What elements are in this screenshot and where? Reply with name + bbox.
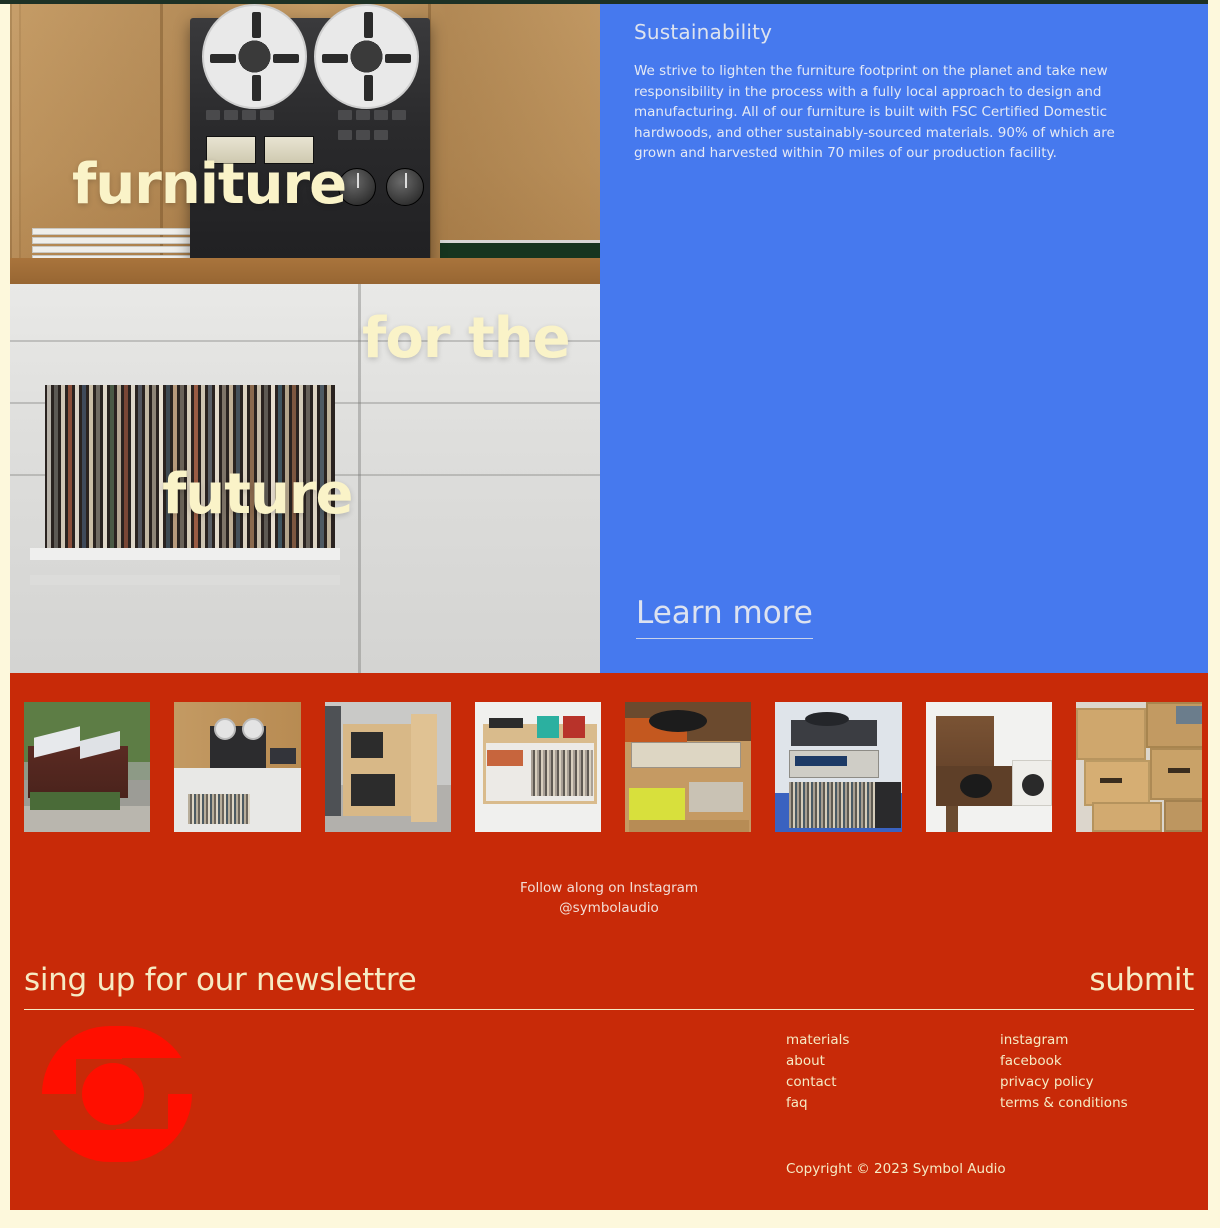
footer-link-privacy-policy[interactable]: privacy policy bbox=[1000, 1072, 1152, 1092]
sustainability-panel: Sustainability We strive to lighten the … bbox=[600, 0, 1208, 673]
logo-inner-circle bbox=[82, 1063, 144, 1125]
hero-word-1: furniture bbox=[72, 152, 346, 217]
instagram-line-2: @symbolaudio bbox=[10, 898, 1208, 918]
gallery-item[interactable] bbox=[475, 702, 601, 832]
tape-reel bbox=[314, 4, 419, 109]
gallery-item[interactable] bbox=[24, 702, 150, 832]
panel-body: We strive to lighten the furniture footp… bbox=[634, 61, 1152, 164]
instagram-gallery bbox=[24, 702, 1202, 832]
bay-shelf bbox=[30, 548, 340, 560]
panel-heading: Sustainability bbox=[634, 20, 1152, 44]
hero-word-2: for the bbox=[362, 306, 570, 371]
footer-link-materials[interactable]: materials bbox=[786, 1030, 938, 1050]
hero-image: McIntosh bbox=[10, 0, 600, 673]
gallery-item[interactable] bbox=[775, 702, 901, 832]
hero-section: McIntosh bbox=[10, 0, 1208, 673]
reel-to-reel-deck bbox=[190, 18, 430, 268]
footer-link-about[interactable]: about bbox=[786, 1051, 938, 1071]
footer-link-contact[interactable]: contact bbox=[786, 1072, 938, 1092]
footer-link-faq[interactable]: faq bbox=[786, 1093, 938, 1113]
gallery-item[interactable] bbox=[325, 702, 451, 832]
gallery-item[interactable] bbox=[625, 702, 751, 832]
footer-column-2: instagram facebook privacy policy terms … bbox=[1000, 1030, 1152, 1113]
footer-link-instagram[interactable]: instagram bbox=[1000, 1030, 1152, 1050]
gallery-item[interactable] bbox=[1076, 702, 1202, 832]
footer-links: materials about contact faq instagram fa… bbox=[786, 1030, 1152, 1113]
symbol-audio-logo[interactable] bbox=[36, 1026, 198, 1162]
hero-word-3: future bbox=[162, 462, 352, 527]
newsletter-form: submit bbox=[24, 962, 1194, 1010]
tape-reel bbox=[202, 4, 307, 109]
instagram-line-1: Follow along on Instagram bbox=[10, 878, 1208, 898]
footer-link-facebook[interactable]: facebook bbox=[1000, 1051, 1152, 1071]
newsletter-submit-button[interactable]: submit bbox=[1089, 962, 1194, 998]
learn-more-link[interactable]: Learn more bbox=[636, 598, 813, 639]
bay-shelf bbox=[30, 575, 340, 585]
gallery-item[interactable] bbox=[174, 702, 300, 832]
page-root: McIntosh bbox=[0, 0, 1220, 1228]
footer-column-1: materials about contact faq bbox=[786, 1030, 938, 1113]
copyright-text: Copyright © 2023 Symbol Audio bbox=[786, 1161, 1006, 1177]
newsletter-email-input[interactable] bbox=[24, 962, 724, 998]
footer-link-terms[interactable]: terms & conditions bbox=[1000, 1093, 1152, 1113]
gallery-item[interactable] bbox=[926, 702, 1052, 832]
instagram-caption: Follow along on Instagram @symbolaudio bbox=[10, 878, 1208, 918]
top-rule bbox=[0, 0, 1208, 4]
